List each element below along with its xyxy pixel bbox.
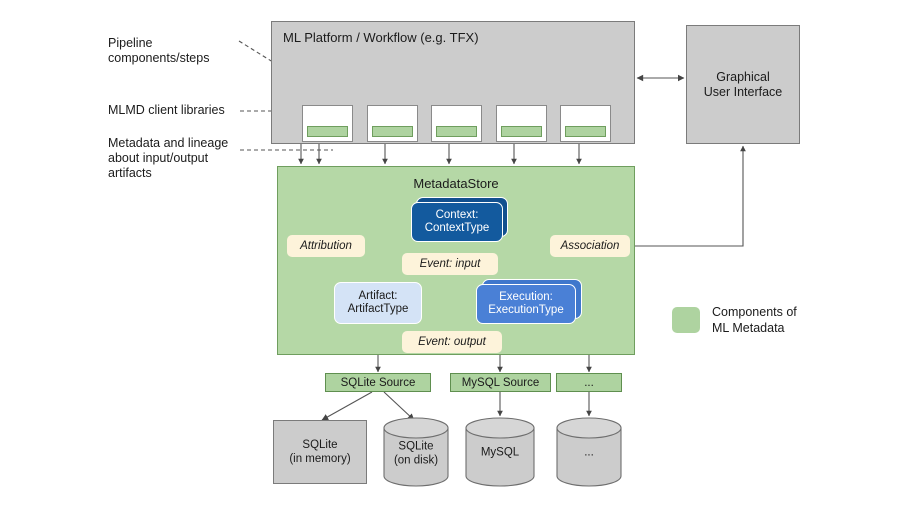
edge-association-gui [629, 146, 743, 246]
relation-event-input: Event: input [402, 253, 498, 275]
relation-association: Association [550, 235, 630, 257]
node-context-face: Context: ContextType [411, 202, 503, 242]
storage-sqlite-on-disk-label: SQLite (on disk) [383, 439, 449, 467]
node-context-label: Context: ContextType [425, 209, 490, 236]
storage-sqlite-on-disk: SQLite (on disk) [383, 417, 449, 487]
pipeline-component-5[interactable] [560, 105, 611, 142]
storage-mysql-label: MySQL [465, 446, 535, 460]
edge-sqlitesource-ondisk [384, 392, 414, 420]
metadata-store-title: MetadataStore [278, 176, 634, 191]
relation-event-output: Event: output [402, 331, 502, 353]
metadata-store-box: MetadataStore Context: ContextType Artif… [277, 166, 635, 355]
legend: Components of ML Metadata [672, 304, 872, 346]
storage-sqlite-in-memory-label: SQLite (in memory) [289, 438, 350, 466]
annotation-pipeline-components: Pipeline components/steps [108, 36, 243, 66]
annotation-metadata-lineage: Metadata and lineage about input/output … [108, 136, 253, 181]
storage-other-db-label: ... [556, 446, 622, 460]
storage-other-db: ... [556, 417, 622, 487]
pipeline-component-1[interactable] [302, 105, 353, 142]
node-artifact-label: Artifact: ArtifactType [348, 290, 409, 317]
relation-event-output-label: Event: output [418, 336, 486, 348]
source-box-mysql-label: MySQL Source [462, 377, 540, 389]
mlmd-client-library-4 [501, 126, 542, 137]
ml-platform-box: ML Platform / Workflow (e.g. TFX) [271, 21, 635, 144]
relation-event-input-label: Event: input [420, 258, 481, 270]
graphical-user-interface-box[interactable]: Graphical User Interface [686, 25, 800, 144]
storage-mysql: MySQL [465, 417, 535, 487]
source-box-sqlite[interactable]: SQLite Source [325, 373, 431, 392]
source-box-other[interactable]: ... [556, 373, 622, 392]
node-artifact[interactable]: Artifact: ArtifactType [334, 282, 422, 324]
mlmd-client-library-1 [307, 126, 348, 137]
node-execution[interactable]: Execution: ExecutionType [476, 284, 576, 324]
legend-color-swatch [672, 307, 700, 333]
node-execution-face: Execution: ExecutionType [476, 284, 576, 324]
relation-attribution: Attribution [287, 235, 365, 257]
relation-attribution-label: Attribution [300, 240, 352, 252]
mlmd-client-library-5 [565, 126, 606, 137]
node-execution-label: Execution: ExecutionType [488, 291, 563, 318]
pipeline-component-3[interactable] [431, 105, 482, 142]
gui-label: Graphical User Interface [704, 70, 783, 100]
legend-label: Components of ML Metadata [712, 304, 797, 336]
mlmd-client-library-3 [436, 126, 477, 137]
edge-sqlitesource-inmemory [322, 392, 372, 420]
source-box-sqlite-label: SQLite Source [341, 377, 416, 389]
diagram-canvas: Pipeline components/steps MLMD client li… [0, 0, 900, 506]
pipeline-component-4[interactable] [496, 105, 547, 142]
source-box-mysql[interactable]: MySQL Source [450, 373, 551, 392]
relation-association-label: Association [561, 240, 620, 252]
storage-sqlite-in-memory: SQLite (in memory) [273, 420, 367, 484]
source-box-other-label: ... [584, 377, 594, 389]
mlmd-client-library-2 [372, 126, 413, 137]
node-context[interactable]: Context: ContextType [411, 202, 503, 242]
ml-platform-title: ML Platform / Workflow (e.g. TFX) [283, 30, 479, 45]
annotation-mlmd-client-libraries: MLMD client libraries [108, 103, 253, 118]
node-artifact-face: Artifact: ArtifactType [334, 282, 422, 324]
pipeline-component-2[interactable] [367, 105, 418, 142]
